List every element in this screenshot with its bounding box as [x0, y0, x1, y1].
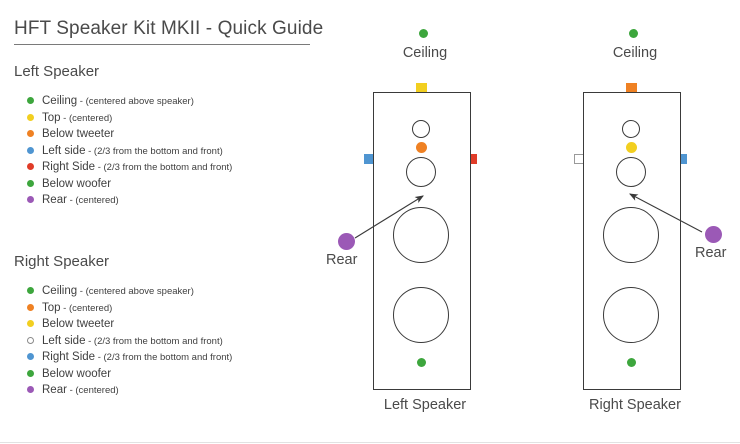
page-bottom-divider: [0, 442, 740, 443]
lower-woofer-driver-icon: [393, 287, 449, 343]
bullet-label: Below woofer: [42, 368, 111, 380]
list-item: Below woofer: [24, 365, 324, 382]
bullet-note: - (2/3 from the bottom and front): [85, 336, 222, 347]
speaker-caption: Right Speaker: [530, 397, 740, 413]
bullet-dot-below-woofer-icon: [27, 370, 34, 377]
left-speaker-placement-list: Ceiling - (centered above speaker)Top - …: [24, 92, 324, 208]
ceiling-label: Ceiling: [320, 45, 530, 61]
title-underline: [14, 44, 310, 45]
bullet-label: Below woofer: [42, 178, 111, 190]
bullet-label: Left side: [42, 145, 85, 157]
bullet-label: Rear: [42, 384, 67, 396]
bullet-label: Left side: [42, 335, 85, 347]
bullet-dot-below-woofer-icon: [27, 180, 34, 187]
ceiling-dot-icon: [629, 29, 638, 38]
bullet-note: - (2/3 from the bottom and front): [95, 162, 232, 173]
bullet-note: - (centered above speaker): [77, 96, 194, 107]
list-item: Ceiling - (centered above speaker): [24, 92, 324, 109]
section-heading-right-speaker: Right Speaker: [14, 253, 109, 270]
below-tweeter-dot-icon: [626, 142, 637, 153]
bullet-dot-top-icon: [27, 114, 34, 121]
bullet-dot-left-side-icon: [27, 337, 34, 344]
rear-label: Rear: [326, 252, 357, 268]
bullet-label: Right Side: [42, 161, 95, 173]
bullet-label: Right Side: [42, 351, 95, 363]
list-item: Top - (centered): [24, 109, 324, 126]
right-speaker-diagram: Ceiling Rear Right Speaker: [530, 0, 740, 444]
bullet-dot-right-side-icon: [27, 353, 34, 360]
ceiling-label: Ceiling: [530, 45, 740, 61]
tweeter-driver-icon: [622, 120, 640, 138]
bullet-note: - (2/3 from the bottom and front): [85, 146, 222, 157]
quick-guide-page: HFT Speaker Kit MKII - Quick Guide Left …: [0, 0, 740, 444]
bullet-label: Ceiling: [42, 285, 77, 297]
bullet-label: Top: [42, 112, 61, 124]
bullet-label: Ceiling: [42, 95, 77, 107]
bullet-dot-rear-icon: [27, 386, 34, 393]
bullet-label: Rear: [42, 194, 67, 206]
rear-dot-icon: [338, 233, 355, 250]
tweeter-driver-icon: [412, 120, 430, 138]
lower-woofer-driver-icon: [603, 287, 659, 343]
upper-woofer-driver-icon: [603, 207, 659, 263]
rear-label: Rear: [695, 245, 726, 261]
bullet-dot-ceiling-icon: [27, 97, 34, 104]
bullet-dot-below-tweeter-icon: [27, 320, 34, 327]
bullet-note: - (centered): [67, 195, 119, 206]
bullet-note: - (centered above speaker): [77, 286, 194, 297]
below-woofer-dot-icon: [627, 358, 636, 367]
ceiling-dot-icon: [419, 29, 428, 38]
rear-dot-icon: [705, 226, 722, 243]
right-speaker-placement-list: Ceiling - (centered above speaker)Top - …: [24, 282, 324, 398]
list-item: Below tweeter: [24, 315, 324, 332]
left-speaker-diagram: Ceiling Rear Left Speaker: [320, 0, 530, 444]
bullet-note: - (centered): [67, 385, 119, 396]
below-woofer-dot-icon: [417, 358, 426, 367]
bullet-note: - (centered): [61, 113, 113, 124]
list-item: Rear - (centered): [24, 191, 324, 208]
bullet-dot-left-side-icon: [27, 147, 34, 154]
bullet-dot-top-icon: [27, 304, 34, 311]
bullet-dot-right-side-icon: [27, 163, 34, 170]
list-item: Below woofer: [24, 175, 324, 192]
list-item: Below tweeter: [24, 125, 324, 142]
upper-woofer-driver-icon: [393, 207, 449, 263]
list-item: Top - (centered): [24, 299, 324, 316]
bullet-label: Below tweeter: [42, 128, 114, 140]
below-tweeter-dot-icon: [416, 142, 427, 153]
list-item: Right Side - (2/3 from the bottom and fr…: [24, 348, 324, 365]
bullet-note: - (2/3 from the bottom and front): [95, 352, 232, 363]
bullet-label: Below tweeter: [42, 318, 114, 330]
midrange-driver-icon: [406, 157, 436, 187]
midrange-driver-icon: [616, 157, 646, 187]
bullet-dot-below-tweeter-icon: [27, 130, 34, 137]
bullet-dot-rear-icon: [27, 196, 34, 203]
speaker-caption: Left Speaker: [320, 397, 530, 413]
bullet-label: Top: [42, 302, 61, 314]
bullet-dot-ceiling-icon: [27, 287, 34, 294]
page-title: HFT Speaker Kit MKII - Quick Guide: [14, 18, 323, 40]
list-item: Left side - (2/3 from the bottom and fro…: [24, 142, 324, 159]
list-item: Left side - (2/3 from the bottom and fro…: [24, 332, 324, 349]
list-item: Rear - (centered): [24, 381, 324, 398]
bullet-note: - (centered): [61, 303, 113, 314]
list-item: Ceiling - (centered above speaker): [24, 282, 324, 299]
list-item: Right Side - (2/3 from the bottom and fr…: [24, 158, 324, 175]
section-heading-left-speaker: Left Speaker: [14, 63, 99, 80]
